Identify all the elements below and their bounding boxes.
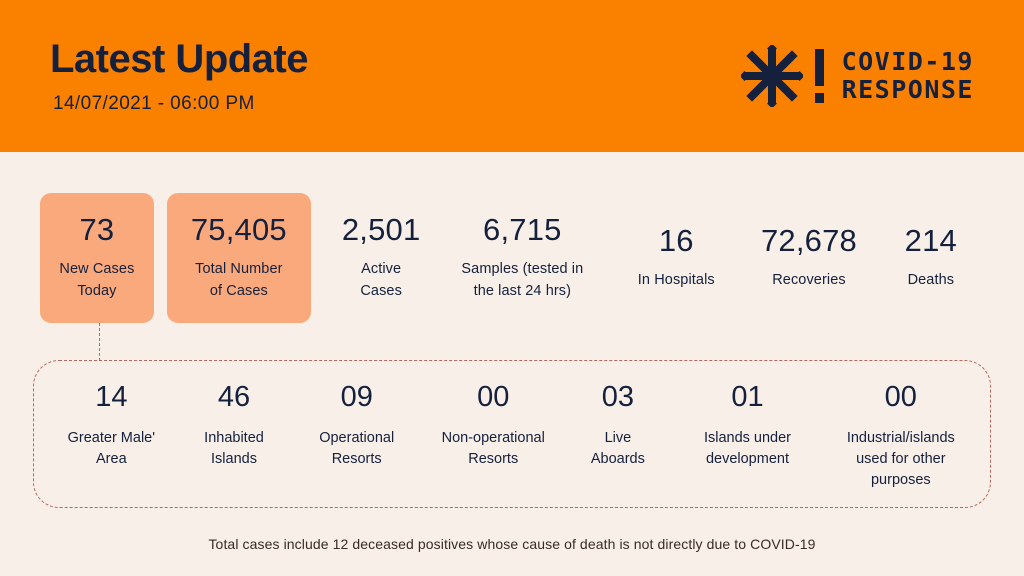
stat-recoveries: 72,678 Recoveries — [740, 193, 877, 323]
breakdown-value: 01 — [731, 383, 763, 412]
breakdown-label: Greater Male' Area — [68, 428, 155, 470]
header-title-block: Latest Update 14/07/2021 - 06:00 PM — [50, 38, 308, 115]
stat-value: 6,715 — [483, 214, 562, 245]
breakdown-industrial-other-purposes: 00 Industrial/islands used for other pur… — [826, 383, 976, 491]
breakdown-label-line1: Industrial/islands — [847, 430, 955, 446]
stat-label: Active Cases — [360, 259, 402, 301]
covid-update-dashboard: Latest Update 14/07/2021 - 06:00 PM — [0, 0, 1024, 576]
breakdown-value: 46 — [218, 383, 250, 412]
breakdown-label-line1: Live — [605, 430, 632, 446]
stat-label: Deaths — [908, 270, 955, 291]
breakdown-label-line1: Non-operational — [442, 430, 545, 446]
breakdown-value: 09 — [341, 383, 373, 412]
breakdown-inhabited-islands: 46 Inhabited Islands — [175, 383, 294, 470]
stat-samples-tested: 6,715 Samples (tested in the last 24 hrs… — [432, 193, 612, 323]
breakdown-islands-under-development: 01 Islands under development — [669, 383, 825, 470]
stat-label-line1: Total Number — [195, 261, 282, 277]
covid-starburst-icon — [741, 45, 803, 107]
dashboard-header: Latest Update 14/07/2021 - 06:00 PM — [0, 0, 1024, 152]
breakdown-label: Islands under development — [704, 428, 791, 470]
breakdown-value: 03 — [602, 383, 634, 412]
breakdown-live-aboards: 03 Live Aboards — [566, 383, 669, 470]
stat-value: 214 — [905, 225, 957, 256]
stat-new-cases-today[interactable]: 73 New Cases Today — [40, 193, 154, 323]
logo-wordmark: COVID-19 RESPONSE — [842, 48, 974, 104]
stat-deaths: 214 Deaths — [878, 193, 984, 323]
stat-active-cases: 2,501 Active Cases — [330, 193, 433, 323]
new-cases-breakdown-box: 14 Greater Male' Area 46 Inhabited Islan… — [33, 360, 991, 508]
breakdown-label: Live Aboards — [591, 428, 645, 470]
stat-label: In Hospitals — [638, 270, 715, 291]
breakdown-label-line2: development — [706, 451, 789, 467]
breakdown-label-line2: Area — [96, 451, 127, 467]
breakdown-label: Industrial/islands used for other purpos… — [847, 428, 955, 491]
stat-label-line2: Today — [77, 283, 116, 299]
stat-label: Recoveries — [772, 270, 846, 291]
primary-stats-row: 73 New Cases Today 75,405 Total Number o… — [40, 193, 984, 323]
stat-label-line2: of Cases — [210, 283, 268, 299]
stat-value: 75,405 — [191, 214, 287, 245]
breakdown-label-line2: Resorts — [468, 451, 518, 467]
breakdown-value: 00 — [477, 383, 509, 412]
breakdown-label-line2: Resorts — [332, 451, 382, 467]
exclamation-mark-icon — [811, 47, 828, 105]
stat-value: 73 — [79, 214, 114, 245]
footnote-text: Total cases include 12 deceased positive… — [0, 536, 1024, 552]
logo-line-response: RESPONSE — [842, 76, 974, 104]
dashed-connector-line — [99, 323, 100, 361]
breakdown-label: Non-operational Resorts — [442, 428, 545, 470]
breakdown-non-operational-resorts: 00 Non-operational Resorts — [420, 383, 566, 470]
logo-mark — [741, 45, 828, 107]
breakdown-label: Inhabited Islands — [204, 428, 264, 470]
stat-value: 72,678 — [761, 225, 857, 256]
stat-label-line2: the last 24 hrs) — [474, 283, 572, 299]
stat-label: New Cases Today — [59, 259, 134, 301]
breakdown-operational-resorts: 09 Operational Resorts — [293, 383, 420, 470]
breakdown-value: 14 — [95, 383, 127, 412]
breakdown-label: Operational Resorts — [319, 428, 394, 470]
breakdown-label-line2: Aboards — [591, 451, 645, 467]
stat-label: Samples (tested in the last 24 hrs) — [461, 259, 583, 301]
stat-label-line1: Active — [361, 261, 401, 277]
logo-line-covid: COVID-19 — [842, 48, 974, 76]
page-title: Latest Update — [50, 38, 308, 80]
covid-response-logo: COVID-19 RESPONSE — [741, 45, 974, 107]
stat-in-hospitals: 16 In Hospitals — [612, 193, 740, 323]
stat-label-line1: New Cases — [59, 261, 134, 277]
breakdown-label-line1: Islands under — [704, 430, 791, 446]
breakdown-greater-male-area: 14 Greater Male' Area — [48, 383, 175, 470]
breakdown-label-line2: used for other — [856, 451, 945, 467]
stat-total-cases[interactable]: 75,405 Total Number of Cases — [167, 193, 311, 323]
breakdown-label-line1: Operational — [319, 430, 394, 446]
breakdown-value: 00 — [885, 383, 917, 412]
stat-label-line2: Cases — [360, 283, 402, 299]
stat-label: Total Number of Cases — [195, 259, 282, 301]
breakdown-label-line3: purposes — [871, 472, 931, 488]
stat-value: 2,501 — [342, 214, 421, 245]
stat-value: 16 — [659, 225, 694, 256]
update-timestamp: 14/07/2021 - 06:00 PM — [53, 93, 308, 115]
stat-label-line1: Samples (tested in — [461, 261, 583, 277]
breakdown-label-line1: Inhabited — [204, 430, 264, 446]
breakdown-label-line1: Greater Male' — [68, 430, 155, 446]
breakdown-label-line2: Islands — [211, 451, 257, 467]
